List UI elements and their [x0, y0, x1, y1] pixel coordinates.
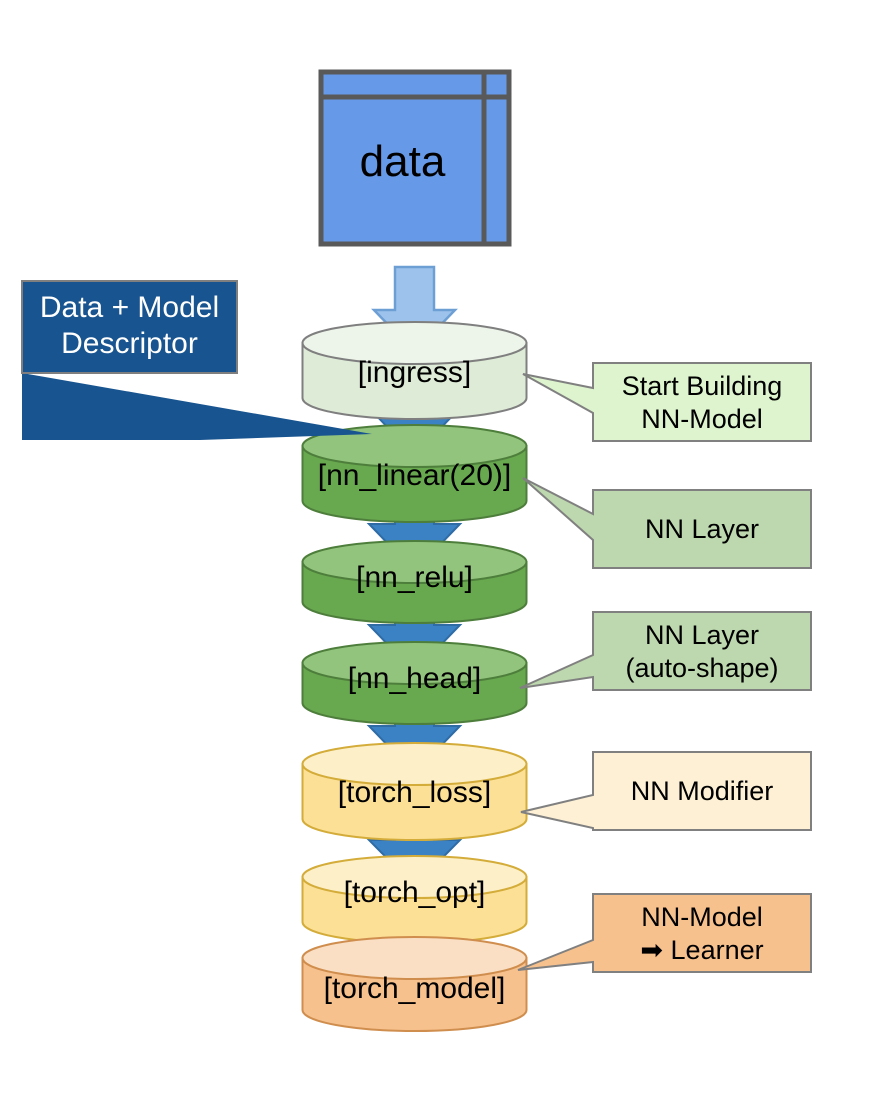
- callout-nn-modifier[interactable]: [521, 752, 811, 830]
- node-torch_model[interactable]: [303, 937, 527, 1031]
- node-data[interactable]: [321, 72, 509, 244]
- callout-nn-model-learner[interactable]: [518, 894, 811, 972]
- callout-nn-layer-auto-shape[interactable]: [520, 612, 811, 690]
- diagram-shapes: [0, 0, 893, 1106]
- node-nn_linear[interactable]: [303, 425, 527, 522]
- node-nn_head[interactable]: [303, 642, 527, 724]
- callout-nn-layer[interactable]: [523, 478, 811, 568]
- node-torch_opt[interactable]: [303, 856, 527, 943]
- node-nn_relu[interactable]: [303, 541, 527, 623]
- node-ingress[interactable]: [303, 322, 527, 419]
- callout-start-building[interactable]: [523, 363, 811, 441]
- node-torch_loss[interactable]: [303, 743, 527, 840]
- diagram-canvas: data [ingress] [nn_linear(20)] [nn_relu]…: [0, 0, 893, 1106]
